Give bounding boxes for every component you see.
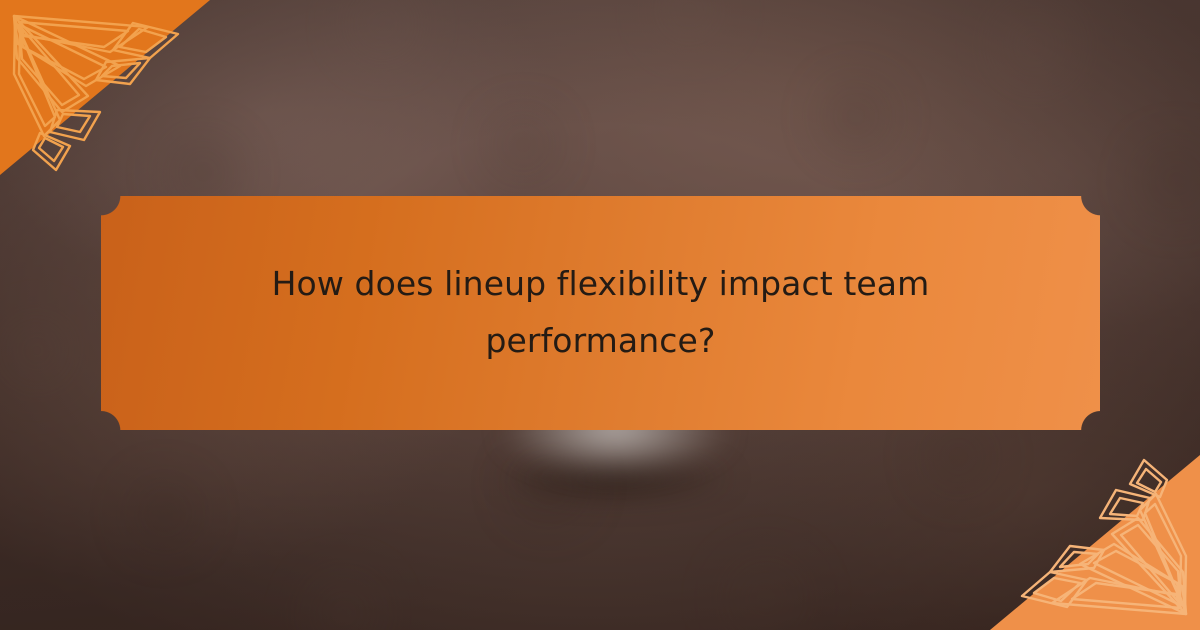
page-title: How does lineup flexibility impact team … [256, 256, 946, 370]
headline-card: How does lineup flexibility impact team … [101, 196, 1100, 430]
social-card-canvas: How does lineup flexibility impact team … [0, 0, 1200, 630]
corner-ornament-top-left-icon [0, 0, 210, 175]
corner-ornament-bottom-right-icon [990, 455, 1200, 630]
